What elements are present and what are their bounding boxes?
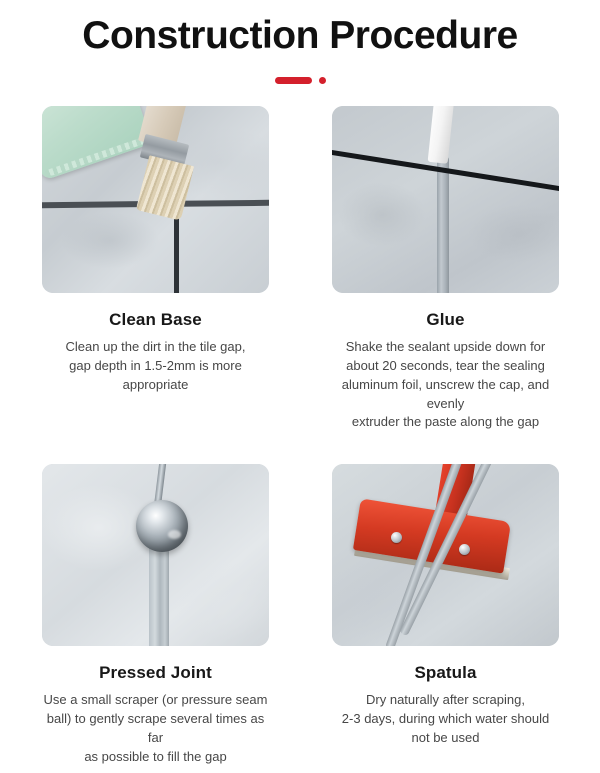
title-divider: [0, 76, 600, 84]
sealant-bead: [437, 156, 449, 293]
step-card-glue: Glue Shake the sealant upside down for a…: [332, 106, 559, 432]
step-card-pressed-joint: Pressed Joint Use a small scraper (or pr…: [42, 464, 269, 766]
step-image-glue: [332, 106, 559, 293]
divider-dot-icon: [319, 77, 326, 84]
step-image-spatula: [332, 464, 559, 646]
step-card-spatula: Spatula Dry naturally after scraping, 2-…: [332, 464, 559, 766]
step-title: Spatula: [332, 663, 559, 683]
step-image-clean-base: [42, 106, 269, 293]
step-description: Shake the sealant upside down for about …: [332, 338, 559, 432]
page-title: Construction Procedure: [0, 0, 600, 55]
pressure-seam-ball: [136, 500, 188, 552]
steps-grid: Clean Base Clean up the dirt in the tile…: [0, 106, 600, 432]
step-image-pressed-joint: [42, 464, 269, 646]
step-description: Use a small scraper (or pressure seam ba…: [42, 691, 269, 766]
step-title: Pressed Joint: [42, 663, 269, 683]
step-description: Dry naturally after scraping, 2-3 days, …: [332, 691, 559, 748]
step-title: Clean Base: [42, 310, 269, 330]
divider-bar-icon: [275, 77, 312, 84]
steps-grid-row-2: Pressed Joint Use a small scraper (or pr…: [0, 464, 600, 766]
step-title: Glue: [332, 310, 559, 330]
step-card-clean-base: Clean Base Clean up the dirt in the tile…: [42, 106, 269, 432]
step-description: Clean up the dirt in the tile gap, gap d…: [42, 338, 269, 395]
